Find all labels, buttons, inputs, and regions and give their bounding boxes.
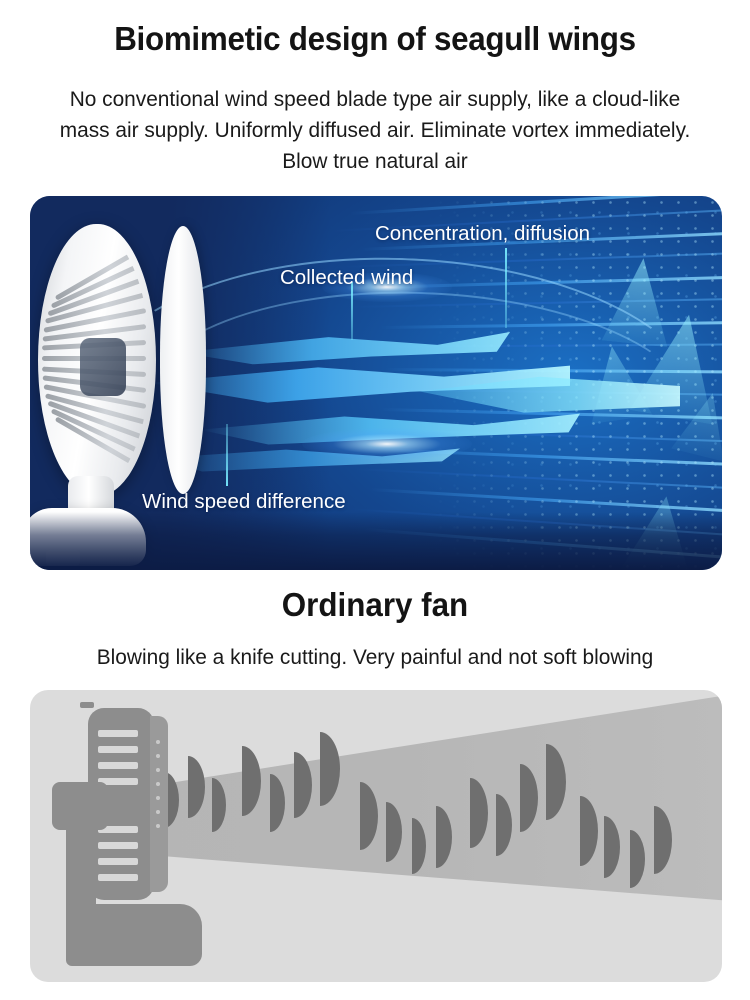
airflow-glow <box>302 428 472 460</box>
hero-bottom-shade <box>30 512 722 570</box>
leader-line-wind-speed-difference <box>226 424 228 486</box>
fan-grille <box>38 230 150 490</box>
ordinary-fan-title: Ordinary fan <box>19 586 732 624</box>
fan-front-rim <box>160 226 206 494</box>
page-title: Biomimetic design of seagull wings <box>19 20 732 58</box>
label-collected-wind: Collected wind <box>280 266 413 290</box>
airflow-hero-panel: Concentration, diffusion Collected wind … <box>30 196 722 570</box>
circulation-fan-product <box>30 224 194 554</box>
top-description: No conventional wind speed blade type ai… <box>48 84 702 177</box>
ordinary-fan-description: Blowing like a knife cutting. Very painf… <box>31 645 720 670</box>
fan-top-knob <box>80 702 94 708</box>
leader-line-collected-wind <box>351 282 353 340</box>
ordinary-fan-panel <box>30 690 722 982</box>
fan-hub <box>80 338 126 396</box>
product-infographic: Biomimetic design of seagull wings No co… <box>0 0 750 1000</box>
label-concentration-diffusion: Concentration, diffusion <box>375 222 590 246</box>
leader-line-concentration <box>505 248 507 328</box>
ordinary-fan-silhouette <box>52 708 232 978</box>
ordinary-fan-foot <box>66 904 202 966</box>
